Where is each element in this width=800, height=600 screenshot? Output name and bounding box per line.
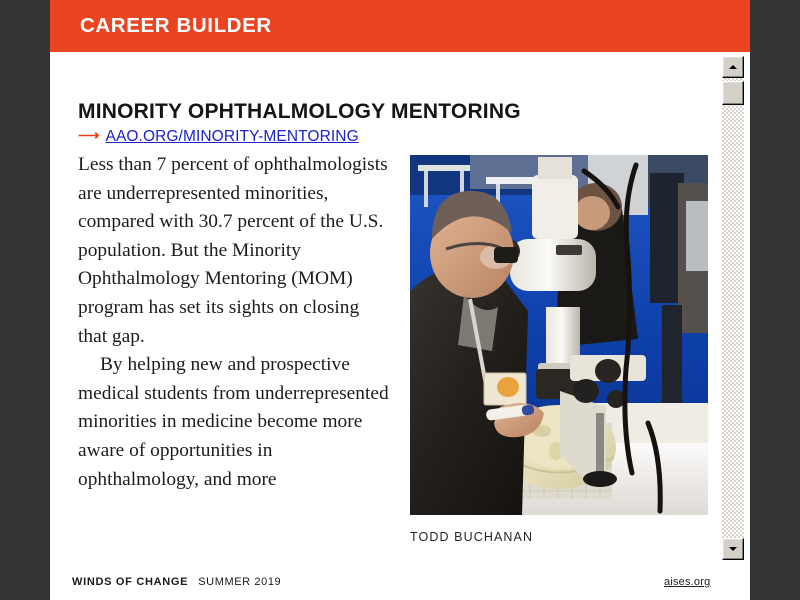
scroll-thumb[interactable] (722, 81, 744, 105)
footer-magazine-name: WINDS OF CHANGE (72, 576, 188, 588)
masthead-title: CAREER BUILDER (80, 13, 272, 39)
article-url-line: ⟶ AAO.ORG/MINORITY-MENTORING (78, 128, 359, 146)
photo-credit-caption: TODD BUCHANAN (410, 530, 533, 544)
page-title: MINORITY OPHTHALMOLOGY MENTORING (78, 100, 521, 124)
article-paragraph-1: Less than 7 percent of ophthalmologists … (78, 151, 390, 351)
masthead-banner: CAREER BUILDER (50, 0, 750, 52)
scroll-down-button[interactable] (722, 538, 744, 560)
magazine-page: CAREER BUILDER MINORITY OPHTHALMOLOGY ME… (50, 0, 750, 600)
footer-issue: SUMMER 2019 (198, 576, 281, 588)
article-photo (410, 155, 708, 515)
document-viewer[interactable]: CAREER BUILDER MINORITY OPHTHALMOLOGY ME… (0, 0, 800, 600)
footer-site-link[interactable]: aises.org (664, 576, 710, 588)
article-paragraph-2: By helping new and prospective medical s… (78, 351, 390, 494)
vertical-scrollbar[interactable] (722, 56, 744, 560)
footer-left: WINDS OF CHANGESUMMER 2019 (72, 576, 281, 588)
photo-illustration (410, 155, 708, 515)
article-photo-figure (410, 155, 708, 515)
scroll-up-button[interactable] (722, 56, 744, 78)
arrow-right-icon: ⟶ (78, 128, 100, 143)
article-url-link[interactable]: AAO.ORG/MINORITY-MENTORING (106, 128, 359, 146)
triangle-up-icon (729, 65, 737, 69)
article-text-column: Less than 7 percent of ophthalmologists … (78, 151, 390, 494)
triangle-down-icon (729, 547, 737, 551)
